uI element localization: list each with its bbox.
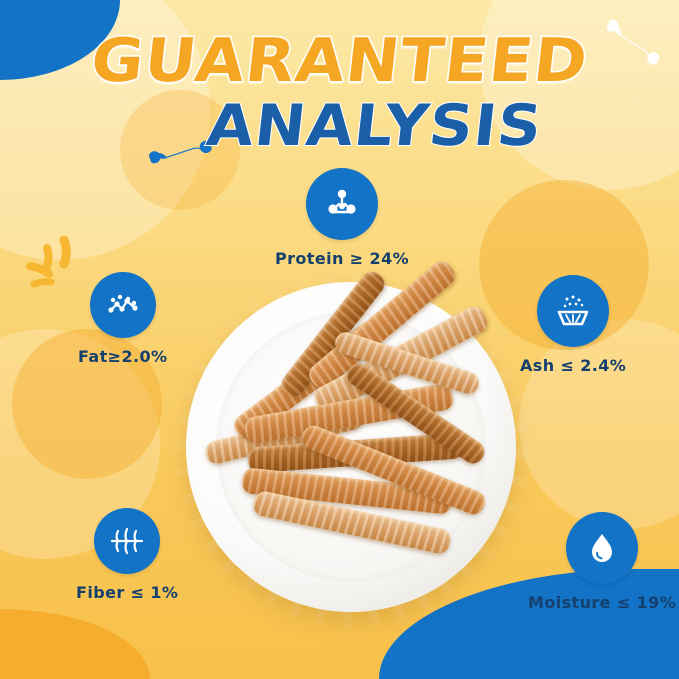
nutrient-moisture: Moisture ≤ 19% bbox=[528, 512, 676, 612]
treat-stack bbox=[186, 282, 516, 612]
nutrient-label: Protein ≥ 24% bbox=[275, 249, 409, 268]
product-infographic: GUARANTEED ANALYSIS bbox=[0, 0, 679, 679]
nutrient-protein: Protein ≥ 24% bbox=[275, 168, 409, 268]
fiber-strands-icon bbox=[94, 508, 160, 574]
nutrient-label: Ash ≤ 2.4% bbox=[520, 356, 626, 375]
nutrient-label: Fat≥2.0% bbox=[78, 347, 167, 366]
ash-bowl-icon bbox=[537, 275, 609, 347]
nutrient-fat: Fat≥2.0% bbox=[78, 272, 167, 366]
fat-dots-icon bbox=[90, 272, 156, 338]
nutrient-fiber: Fiber ≤ 1% bbox=[76, 508, 178, 602]
product-image bbox=[186, 282, 516, 612]
nutrient-label: Fiber ≤ 1% bbox=[76, 583, 178, 602]
nutrient-ash: Ash ≤ 2.4% bbox=[520, 275, 626, 375]
molecule-icon bbox=[306, 168, 378, 240]
nutrient-label: Moisture ≤ 19% bbox=[528, 593, 676, 612]
water-drop-icon bbox=[566, 512, 638, 584]
